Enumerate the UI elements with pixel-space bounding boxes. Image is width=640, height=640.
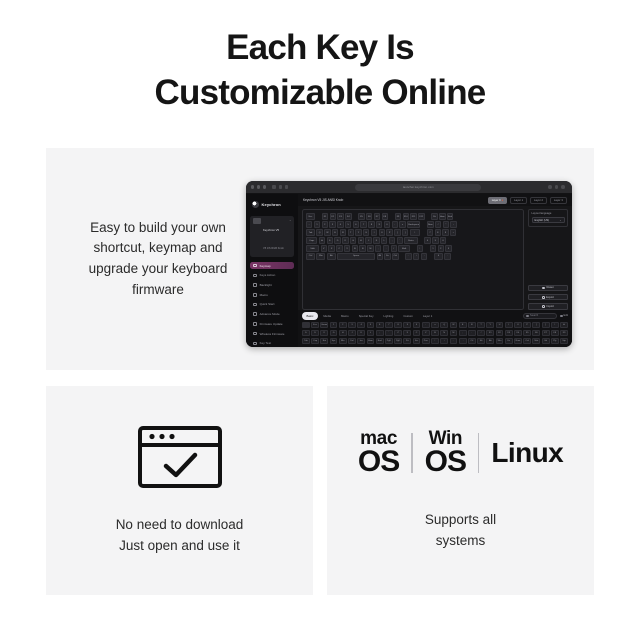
keyboard-key[interactable]: C — [336, 245, 342, 251]
sidebar-item-advance-mode[interactable]: Advance Mode — [250, 311, 294, 318]
picker-key[interactable]: L — [367, 330, 375, 336]
pencil-icon — [560, 315, 563, 318]
picker-key[interactable]: 1 — [330, 322, 338, 328]
keyboard-key[interactable]: \ — [410, 229, 420, 235]
key-category-tabs: Basic Media Macro Special Key Lighting C… — [302, 312, 568, 319]
picker-key[interactable]: PgD — [394, 338, 402, 344]
sidebar-item-keys-action[interactable]: Keys Action — [250, 272, 294, 279]
picker-key[interactable]: K — [357, 330, 365, 336]
keyboard-key[interactable]: [ — [394, 229, 400, 235]
sidebar-item-wireless-firmware[interactable]: Wireless Firmware — [250, 330, 294, 337]
keyboard-key[interactable]: E — [332, 229, 338, 235]
keyboard-key[interactable]: N — [359, 245, 365, 251]
keyboard-key[interactable]: I — [371, 229, 377, 235]
os-divider — [478, 433, 479, 473]
keyboard-key[interactable]: G — [350, 237, 356, 243]
feature-panel-top-copy: Easy to build your own shortcut, keymap … — [46, 218, 246, 300]
keyboard-key[interactable]: Ctrl — [392, 253, 398, 259]
picker-key[interactable]: , — [459, 330, 467, 336]
picker-key[interactable]: S — [302, 330, 310, 336]
device-thumbnail-icon — [253, 218, 261, 224]
keyboard-key[interactable]: F1 — [322, 213, 328, 219]
picker-key[interactable]: Cap — [311, 338, 319, 344]
keyboard-key[interactable]: P — [386, 229, 392, 235]
keyboard-key[interactable]: ' — [397, 237, 403, 243]
device-card[interactable]: Keychron V5 V5 JIS RGB Knob ⌄ — [250, 216, 294, 257]
key-test-icon — [253, 342, 257, 346]
keyboard-key[interactable]: 5 — [432, 237, 438, 243]
tab-label: Macro — [341, 314, 349, 318]
keyboard-row: ShiftZXCVBNM,./Shift↑123 — [306, 245, 520, 251]
keyboard-key[interactable]: Alt — [327, 253, 336, 259]
picker-key[interactable]: PgU — [385, 338, 393, 344]
back-icon[interactable] — [272, 185, 275, 188]
linux-logo: Linux — [491, 437, 563, 469]
keyboard-key[interactable]: * — [443, 221, 449, 227]
keyboard-key[interactable]: - — [392, 221, 398, 227]
keyboard-key[interactable]: 8 — [368, 221, 374, 227]
picker-key[interactable]: M — [450, 330, 458, 336]
keyboard-key[interactable]: Caps — [306, 237, 317, 243]
sidebar-toggle-icon[interactable] — [285, 185, 288, 188]
picker-key[interactable]: Esc — [311, 322, 319, 328]
keyboard-key[interactable]: ← — [405, 253, 411, 259]
keyboard-key[interactable]: F2 — [330, 213, 336, 219]
keyboard-key[interactable]: ↓ — [413, 253, 419, 259]
keyboard-key[interactable]: . — [444, 253, 450, 259]
picker-key[interactable]: 7 — [385, 322, 393, 328]
keyboard-key[interactable]: 1 — [314, 221, 320, 227]
picker-key[interactable]: Stp — [560, 338, 568, 344]
sidebar-item-label: Key Test — [260, 341, 271, 345]
keyboard-key[interactable]: 9 — [442, 229, 448, 235]
layout-language-box: Layout language English (US) ⌄ — [528, 209, 568, 227]
keyboard-key[interactable]: F9 — [395, 213, 401, 219]
picker-key[interactable]: → — [459, 338, 467, 344]
picker-key[interactable]: Tab — [302, 338, 310, 344]
keyboard-row: CapsASDFGHJKL;'Enter456 — [306, 237, 520, 243]
picker-key[interactable]: F8 — [551, 330, 559, 336]
keys-action-icon — [253, 274, 257, 278]
layout-language-value: English (US) — [535, 219, 550, 222]
keyboard-key[interactable]: Win — [316, 253, 325, 259]
keyboard-key[interactable]: ; — [389, 237, 395, 243]
picker-key[interactable]: F7 — [542, 330, 550, 336]
layer-tab-2[interactable]: Layer 2 — [530, 197, 547, 204]
edit-button-label: Edit — [564, 314, 568, 317]
editor-header: Keychron V5 JIS ANSI Knob Layer 0● Layer… — [298, 194, 572, 206]
share-icon[interactable] — [548, 185, 552, 189]
picker-key[interactable]: O — [514, 322, 522, 328]
picker-key[interactable]: Hom — [367, 338, 375, 344]
picker-key[interactable]: Prt — [403, 338, 411, 344]
wireless-firmware-icon — [253, 332, 257, 336]
keyboard-key[interactable]: F11 — [410, 213, 416, 219]
keyboard-key[interactable]: L — [381, 237, 387, 243]
keyboard-key[interactable]: B — [352, 245, 358, 251]
keyboard-key[interactable]: Shift — [398, 245, 409, 251]
keyboard-key[interactable]: F — [342, 237, 348, 243]
sidebar-item-macro[interactable]: Macro — [250, 291, 294, 298]
tab-label: Basic — [307, 314, 314, 318]
quick-start-icon — [253, 303, 257, 307]
key-picker-grid[interactable]: EscHome1234567890-=QWERTYUIOP[]\ASDFGHJK… — [302, 322, 568, 344]
picker-key[interactable]: F4 — [514, 330, 522, 336]
layer-tab-1[interactable]: Layer 1 — [510, 197, 527, 204]
layer-tab-0[interactable]: Layer 0● — [488, 197, 508, 204]
keyboard-key[interactable]: 4 — [337, 221, 343, 227]
keyboard-key[interactable]: Enter — [404, 237, 417, 243]
keyboard-key[interactable]: + — [450, 229, 456, 235]
keyboard-key[interactable]: End — [447, 213, 453, 219]
keyboard-layout[interactable]: EscF1F2F3F4F5F6F7F8F9F10F11F12PrtHomEnd~… — [302, 209, 524, 310]
keyboard-row: ~1234567890-=BackspaceNum/*- — [306, 221, 520, 227]
picker-key[interactable]: Num — [514, 338, 522, 344]
layout-language-select[interactable]: English (US) ⌄ — [532, 217, 565, 223]
keyboard-key[interactable]: Ctrl — [306, 253, 315, 259]
maximize-dot-icon — [263, 185, 266, 188]
picker-key[interactable]: F1 — [486, 330, 494, 336]
tab-label: Special Key — [359, 314, 374, 318]
picker-key[interactable] — [302, 322, 310, 328]
keyboard-key[interactable]: Tab — [306, 229, 315, 235]
picker-key[interactable]: Bks — [339, 338, 347, 344]
sidebar-item-label: Macro — [260, 293, 268, 297]
keyboard-key[interactable]: Esc — [306, 213, 315, 219]
tab-label: Custom — [403, 314, 413, 318]
keyboard-key[interactable]: K — [373, 237, 379, 243]
keyboard-key[interactable]: . — [383, 245, 389, 251]
picker-key[interactable]: ↑ — [431, 338, 439, 344]
tab-media[interactable]: Media — [319, 312, 336, 319]
keyboard-key[interactable]: Space — [337, 253, 375, 259]
keyboard-gap — [429, 253, 433, 259]
layer-tab-label: Layer 1 — [514, 199, 523, 202]
picker-key[interactable]: F — [320, 330, 328, 336]
keychron-logo-icon — [252, 201, 259, 208]
keyboard-key[interactable]: Y — [355, 229, 361, 235]
keyboard-key[interactable]: A — [319, 237, 325, 243]
browser-url-bar[interactable]: launcher.keychron.com — [355, 184, 481, 191]
winos-suffix: OS — [425, 448, 466, 476]
keyboard-key[interactable]: F5 — [358, 213, 364, 219]
keyboard-key[interactable]: V — [344, 245, 350, 251]
keyboard-key[interactable]: → — [421, 253, 427, 259]
keyboard-key[interactable]: F7 — [374, 213, 380, 219]
tab-special-key[interactable]: Special Key — [354, 312, 378, 319]
keyboard-key[interactable]: M — [367, 245, 373, 251]
picker-key[interactable]: [ — [532, 322, 540, 328]
picker-key[interactable]: 6 — [376, 322, 384, 328]
picker-key[interactable]: F3 — [505, 330, 513, 336]
picker-key[interactable]: Z — [394, 330, 402, 336]
os-divider — [411, 433, 412, 473]
keyboard-gap — [419, 237, 423, 243]
picker-key[interactable]: 8 — [394, 322, 402, 328]
chrome-right-icons — [548, 185, 565, 189]
keyboard-key[interactable]: F10 — [403, 213, 409, 219]
keyboard-key[interactable]: / — [391, 245, 397, 251]
picker-key[interactable]: P — [523, 322, 531, 328]
keyboard-key[interactable]: Hom — [439, 213, 445, 219]
picker-key[interactable]: 3 — [348, 322, 356, 328]
keyboard-key[interactable]: F12 — [418, 213, 424, 219]
picker-key[interactable]: Sft — [477, 338, 485, 344]
layer-tab-label: Layer 2 — [534, 199, 543, 202]
keyboard-key[interactable]: 4 — [424, 237, 430, 243]
keyboard-key[interactable]: Shift — [306, 245, 319, 251]
keyboard-gap — [422, 221, 426, 227]
sidebar-item-label: Backlight — [260, 283, 272, 287]
picker-row: SDFGHJKL;'ZXCVBNM,./F1F2F3F4F5F6F7F8F9 — [302, 330, 568, 336]
keyboard-key[interactable]: 7 — [427, 229, 433, 235]
reset-button-label: Reset — [547, 286, 554, 289]
picker-key[interactable]: Del — [348, 338, 356, 344]
keyboard-key[interactable]: S — [327, 237, 333, 243]
sidebar-item-firmware-update[interactable]: Firmware Update — [250, 320, 294, 327]
keyboard-gap — [411, 245, 415, 251]
tab-basic[interactable]: Basic — [302, 312, 318, 319]
tab-label: Layer 1 — [423, 314, 432, 318]
picker-key[interactable]: / — [477, 330, 485, 336]
picker-key[interactable]: D — [311, 330, 319, 336]
sidebar-item-label: Wireless Firmware — [260, 332, 285, 336]
page-title-line2: Customizable Online — [0, 71, 640, 116]
brand: Keychron — [250, 199, 294, 213]
keyboard-key[interactable]: 0 — [384, 221, 390, 227]
picker-key[interactable]: U — [496, 322, 504, 328]
layer-tab-label: Layer 3 — [554, 199, 563, 202]
picker-key[interactable]: Ent — [320, 338, 328, 344]
device-model: V5 JIS RGB Knob — [263, 247, 284, 250]
browser-url-text: launcher.keychron.com — [403, 186, 434, 189]
traffic-lights — [251, 185, 266, 188]
reset-icon — [542, 287, 545, 290]
keyboard-key[interactable]: / — [435, 221, 441, 227]
keyboard-key[interactable]: Q — [316, 229, 322, 235]
keyboard-key[interactable]: Prt — [431, 213, 437, 219]
keymap-editor: EscF1F2F3F4F5F6F7F8F9F10F11F12PrtHomEnd~… — [298, 206, 572, 310]
picker-key[interactable]: ' — [385, 330, 393, 336]
forward-icon[interactable] — [279, 185, 282, 188]
keyboard-key[interactable]: 3 — [329, 221, 335, 227]
picker-key[interactable]: Fn — [505, 338, 513, 344]
keyboard-key[interactable]: = — [399, 221, 405, 227]
picker-key[interactable]: G — [330, 330, 338, 336]
search-icon — [526, 315, 529, 318]
picker-key[interactable]: W — [450, 322, 458, 328]
picker-key[interactable]: End — [376, 338, 384, 344]
sidebar-item-backlight[interactable]: Backlight — [250, 281, 294, 288]
picker-key[interactable]: 5 — [367, 322, 375, 328]
keyboard-key[interactable]: , — [375, 245, 381, 251]
keyboard-key[interactable]: 7 — [360, 221, 366, 227]
keyboard-key[interactable]: ↑ — [417, 245, 423, 251]
chevron-down-icon[interactable]: ⌄ — [289, 218, 292, 222]
keyboard-key[interactable]: 6 — [440, 237, 446, 243]
picker-key[interactable]: T — [477, 322, 485, 328]
layer-tabs: Layer 0● Layer 1 Layer 2 Layer 3 — [488, 197, 568, 204]
picker-key[interactable]: 2 — [339, 322, 347, 328]
keyboard-key[interactable]: W — [324, 229, 330, 235]
picker-key[interactable]: ↓ — [440, 338, 448, 344]
picker-key[interactable]: ← — [450, 338, 458, 344]
picker-key[interactable]: - — [422, 322, 430, 328]
reset-button[interactable]: Reset — [528, 285, 568, 291]
keyboard-key[interactable]: O — [379, 229, 385, 235]
picker-key[interactable]: 9 — [403, 322, 411, 328]
tabs-icon[interactable] — [555, 185, 559, 189]
keyboard-key[interactable]: X — [328, 245, 334, 251]
layout-language-label: Layout language — [532, 212, 565, 215]
picker-key[interactable]: E — [459, 322, 467, 328]
export-button-label: Export — [546, 296, 554, 299]
picker-key[interactable]: Mut — [532, 338, 540, 344]
picker-key[interactable]: \ — [551, 322, 559, 328]
picker-key[interactable]: F9 — [560, 330, 568, 336]
picker-row: TabCapEntSpcBksDelInsHomEndPgUPgDPrtScrP… — [302, 338, 568, 344]
picker-key[interactable]: X — [403, 330, 411, 336]
keyboard-key[interactable]: U — [363, 229, 369, 235]
feature-card-no-download: No need to download Just open and use it — [46, 386, 313, 595]
keyboard-key[interactable]: R — [340, 229, 346, 235]
sidebar-item-label: Keys Action — [260, 273, 276, 277]
picker-key[interactable]: Q — [440, 322, 448, 328]
picker-key[interactable]: C — [413, 330, 421, 336]
keyboard-key[interactable]: F3 — [337, 213, 343, 219]
new-tab-icon[interactable] — [561, 185, 565, 189]
picker-key[interactable]: ; — [376, 330, 384, 336]
advance-mode-icon — [253, 312, 257, 316]
card-line1: No need to download — [116, 515, 244, 535]
winos-logo: Win OS — [425, 430, 466, 476]
keyboard-key[interactable]: 5 — [345, 221, 351, 227]
picker-key[interactable]: ] — [542, 322, 550, 328]
picker-key[interactable]: Win — [496, 338, 504, 344]
keyboard-key[interactable]: 1 — [430, 245, 436, 251]
picker-key[interactable]: B — [431, 330, 439, 336]
picker-key[interactable]: H — [339, 330, 347, 336]
keyboard-gap — [389, 213, 393, 219]
picker-key[interactable]: Ins — [357, 338, 365, 344]
export-button[interactable]: Export — [528, 294, 568, 300]
import-icon — [542, 305, 545, 308]
page-title: Each Key Is Customizable Online — [0, 26, 640, 116]
keyboard-key[interactable]: 2 — [438, 245, 444, 251]
keyboard-gap — [400, 253, 404, 259]
keyboard-key[interactable]: 0 — [434, 253, 443, 259]
picker-key[interactable]: V — [422, 330, 430, 336]
keyboard-key[interactable]: ~ — [306, 221, 312, 227]
keyboard-gap — [421, 229, 425, 235]
chrome-nav-icons — [272, 185, 288, 188]
keyboard-key[interactable]: 2 — [322, 221, 328, 227]
feature-card-os-support: mac OS Win OS Linux Supports all systems — [327, 386, 594, 595]
tab-lighting[interactable]: Lighting — [379, 312, 398, 319]
tab-layer[interactable]: Layer 1 — [418, 312, 436, 319]
tab-label: Media — [323, 314, 331, 318]
picker-key[interactable]: N — [440, 330, 448, 336]
picker-key[interactable]: F6 — [532, 330, 540, 336]
feature-card-os-support-text: Supports all systems — [425, 510, 496, 551]
keyboard-key[interactable]: H — [358, 237, 364, 243]
picker-key[interactable]: Alt — [486, 338, 494, 344]
sidebar-item-label: Advance Mode — [260, 312, 280, 316]
sidebar-item-keymap[interactable]: Keymap — [250, 262, 294, 269]
key-picker-area: Basic Media Macro Special Key Lighting C… — [298, 310, 572, 347]
app-body: Keychron Keychron V5 V5 JIS RGB Knob ⌄ K… — [246, 194, 572, 347]
keyboard-key[interactable]: - — [450, 221, 456, 227]
browser-chrome: launcher.keychron.com — [246, 181, 572, 194]
card-line1: Supports all — [425, 510, 496, 530]
keyboard-gap — [424, 245, 428, 251]
sidebar-item-key-test[interactable]: Key Test — [250, 340, 294, 347]
keyboard-key[interactable]: 3 — [445, 245, 451, 251]
keyboard-row: CtrlWinAltSpaceAltFnCtrl←↓→0. — [306, 253, 520, 259]
picker-key[interactable]: . — [468, 330, 476, 336]
keyboard-key[interactable]: Fn — [384, 253, 390, 259]
picker-row: EscHome1234567890-=QWERTYUIOP[]\A — [302, 322, 568, 328]
picker-key[interactable]: Home — [320, 322, 328, 328]
keyboard-gap — [316, 213, 320, 219]
picker-key[interactable]: Pau — [422, 338, 430, 344]
tab-custom[interactable]: Custom — [399, 312, 418, 319]
picker-key[interactable]: F2 — [496, 330, 504, 336]
keyboard-key[interactable]: Num — [427, 221, 433, 227]
picker-key[interactable]: 4 — [357, 322, 365, 328]
firmware-update-icon — [253, 322, 257, 326]
keyboard-key[interactable]: 6 — [353, 221, 359, 227]
keyboard-key[interactable]: F8 — [382, 213, 388, 219]
keyboard-key[interactable]: J — [365, 237, 371, 243]
keyboard-key[interactable]: Backspace — [407, 221, 420, 227]
picker-key[interactable]: A — [560, 322, 568, 328]
keyboard-key[interactable]: Z — [321, 245, 327, 251]
picker-key[interactable]: Spc — [330, 338, 338, 344]
picker-key[interactable]: Ctl — [468, 338, 476, 344]
picker-key[interactable]: Cal — [523, 338, 531, 344]
picker-key[interactable]: R — [468, 322, 476, 328]
keyboard-key[interactable]: D — [334, 237, 340, 243]
keyboard-gap — [353, 213, 357, 219]
search-input[interactable]: Search — [523, 313, 557, 319]
keyboard-key[interactable]: ] — [402, 229, 408, 235]
keyboard-key[interactable]: T — [348, 229, 354, 235]
picker-key[interactable]: 0 — [413, 322, 421, 328]
sidebar-item-quick-start[interactable]: Quick Start — [250, 301, 294, 308]
picker-key[interactable]: Vol — [542, 338, 550, 344]
keyboard-key[interactable]: F6 — [366, 213, 372, 219]
launcher-app-screenshot: launcher.keychron.com Keychron Keychron … — [246, 181, 572, 347]
picker-key[interactable]: Ply — [551, 338, 559, 344]
layer-tab-3[interactable]: Layer 3 — [550, 197, 567, 204]
picker-key[interactable]: J — [348, 330, 356, 336]
keyboard-key[interactable]: F4 — [345, 213, 351, 219]
picker-tools: Search Edit — [523, 313, 568, 319]
picker-key[interactable]: I — [505, 322, 513, 328]
macro-icon — [253, 293, 257, 297]
app-main: Keychron V5 JIS ANSI Knob Layer 0● Layer… — [298, 194, 572, 347]
picker-key[interactable]: Y — [486, 322, 494, 328]
tab-macro[interactable]: Macro — [336, 312, 353, 319]
edit-button[interactable]: Edit — [560, 314, 568, 317]
picker-key[interactable]: = — [431, 322, 439, 328]
picker-key[interactable]: Scr — [413, 338, 421, 344]
keyboard-key[interactable]: 9 — [376, 221, 382, 227]
picker-key[interactable]: F5 — [523, 330, 531, 336]
keyboard-key[interactable]: 8 — [435, 229, 441, 235]
keyboard-key[interactable]: Alt — [377, 253, 383, 259]
